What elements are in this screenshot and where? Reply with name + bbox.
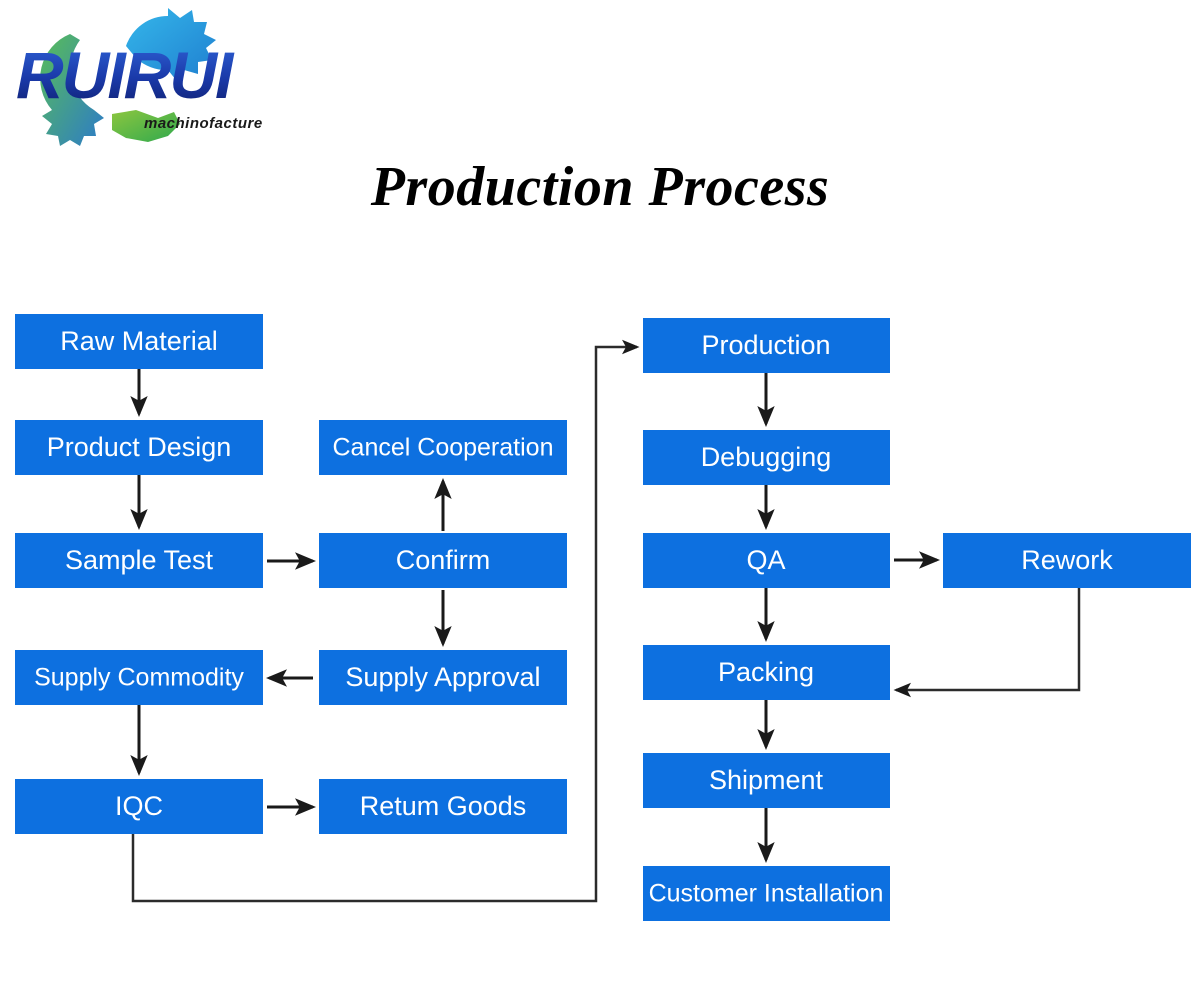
node-packing[interactable]: Packing [643,645,890,700]
production-process-flowchart: Raw Material Product Design Sample Test … [0,0,1200,1000]
node-label-rework: Rework [1021,545,1113,575]
node-iqc[interactable]: IQC [15,779,263,834]
node-label-customer-installation: Customer Installation [649,880,884,908]
node-raw-material[interactable]: Raw Material [15,314,263,369]
node-label-production: Production [701,330,830,360]
node-label-product-design: Product Design [47,432,232,462]
node-label-cancel-cooperation: Cancel Cooperation [333,434,554,462]
node-label-confirm: Confirm [396,545,491,575]
node-customer-installation[interactable]: Customer Installation [643,866,890,921]
node-supply-commodity[interactable]: Supply Commodity [15,650,263,705]
node-shipment[interactable]: Shipment [643,753,890,808]
node-label-supply-commodity: Supply Commodity [34,664,244,692]
node-debugging[interactable]: Debugging [643,430,890,485]
node-label-raw-material: Raw Material [60,326,218,356]
node-cancel-cooperation[interactable]: Cancel Cooperation [319,420,567,475]
node-label-iqc: IQC [115,791,163,821]
node-label-qa: QA [746,545,785,575]
flow-connectors [133,347,1079,901]
node-label-retum-goods: Retum Goods [360,791,527,821]
node-label-shipment: Shipment [709,765,824,795]
node-product-design[interactable]: Product Design [15,420,263,475]
node-retum-goods[interactable]: Retum Goods [319,779,567,834]
node-label-packing: Packing [718,657,814,687]
node-confirm[interactable]: Confirm [319,533,567,588]
node-label-sample-test: Sample Test [65,545,214,575]
node-supply-approval[interactable]: Supply Approval [319,650,567,705]
node-sample-test[interactable]: Sample Test [15,533,263,588]
edge-rework-to-packing [896,588,1079,690]
node-qa[interactable]: QA [643,533,890,588]
node-label-supply-approval: Supply Approval [345,662,540,692]
node-label-debugging: Debugging [701,442,832,472]
node-production[interactable]: Production [643,318,890,373]
node-rework[interactable]: Rework [943,533,1191,588]
